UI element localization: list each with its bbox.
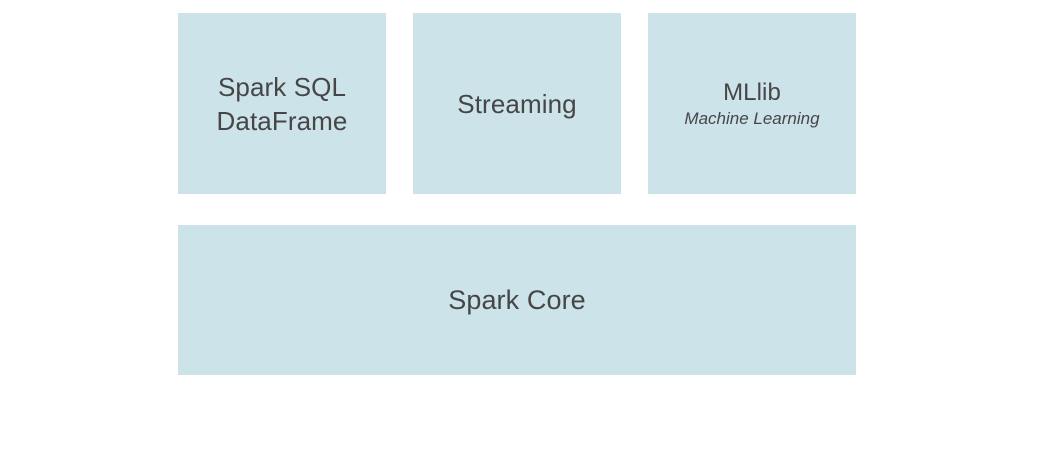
- diagram-box-spark-sql: Spark SQL DataFrame: [178, 13, 386, 194]
- diagram-box-streaming: Streaming: [413, 13, 621, 194]
- diagram-box-spark-sql-title: Spark SQL DataFrame: [217, 70, 348, 138]
- diagram-box-mllib-subtitle: Machine Learning: [684, 108, 819, 130]
- spark-stack-diagram: Spark SQL DataFrame Streaming MLlib Mach…: [0, 0, 1053, 457]
- diagram-box-spark-core: Spark Core: [178, 225, 856, 375]
- diagram-box-streaming-title: Streaming: [457, 87, 576, 121]
- diagram-box-mllib-title: MLlib: [723, 78, 781, 108]
- diagram-box-mllib: MLlib Machine Learning: [648, 13, 856, 194]
- diagram-box-spark-core-title: Spark Core: [448, 283, 586, 317]
